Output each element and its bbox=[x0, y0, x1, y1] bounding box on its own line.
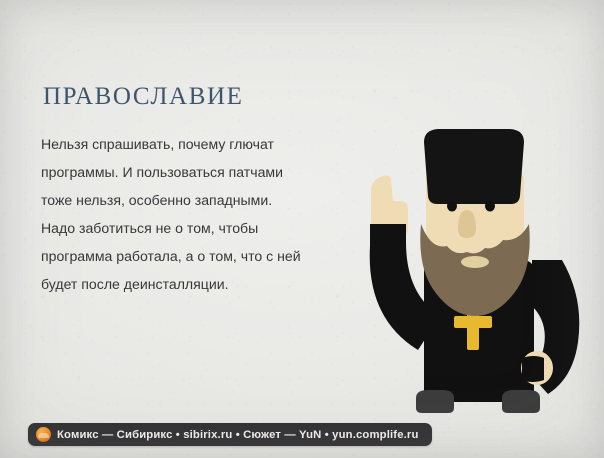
sibirix-logo-icon bbox=[36, 427, 51, 442]
body-line: тоже нельзя, особенно западными. bbox=[41, 186, 353, 214]
body-line: Надо заботиться не о том, чтобы bbox=[41, 214, 353, 242]
priest-eye-right bbox=[485, 201, 495, 212]
orthodox-priest-illustration bbox=[362, 120, 604, 430]
body-line: Нельзя спрашивать, почему глючат bbox=[41, 130, 353, 158]
priest-head bbox=[420, 129, 529, 316]
comic-title: ПРАВОСЛАВИЕ bbox=[43, 83, 244, 111]
priest-mouth bbox=[461, 256, 489, 268]
body-line: программа работала, а о том, что с ней bbox=[41, 242, 353, 270]
credits-text: Комикс — Сибирикс • sibirix.ru • Сюжет —… bbox=[57, 429, 419, 441]
credits-bar: Комикс — Сибирикс • sibirix.ru • Сюжет —… bbox=[28, 423, 432, 446]
body-line: будет после деинсталляции. bbox=[41, 270, 353, 298]
priest-eye-left bbox=[447, 201, 457, 212]
body-line: программы. И пользоваться патчами bbox=[41, 158, 353, 186]
comic-canvas: ПРАВОСЛАВИЕ Нельзя спрашивать, почему гл… bbox=[0, 0, 604, 458]
comic-body-text: Нельзя спрашивать, почему глючат програм… bbox=[41, 130, 353, 298]
